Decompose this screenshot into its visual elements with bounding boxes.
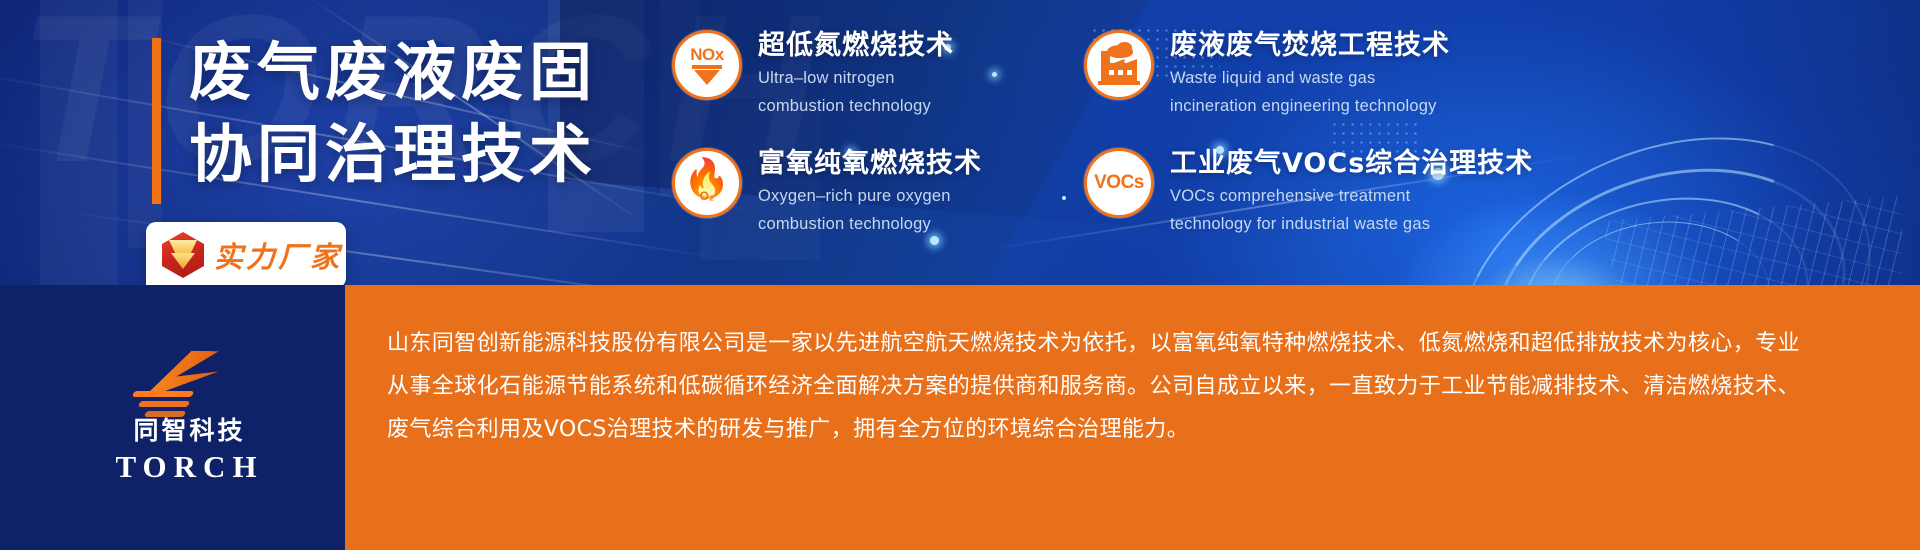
- feature-subtitle-line1: VOCs comprehensive treatment: [1170, 185, 1533, 207]
- feature-title: 工业废气VOCs综合治理技术: [1170, 148, 1533, 179]
- feature-grid: NOx 超低氮燃烧技术 Ultra–low nitrogen combustio…: [672, 28, 1504, 254]
- strength-manufacturer-badge[interactable]: 实力厂家: [146, 222, 346, 288]
- feature-subtitle-line2: incineration engineering technology: [1170, 95, 1450, 117]
- company-description-panel: 山东同智创新能源科技股份有限公司是一家以先进航空航天燃烧技术为依托，以富氧纯氧特…: [345, 285, 1920, 550]
- factory-smoke-icon: [1084, 30, 1154, 100]
- flame-o2-icon: 🔥 O₂: [672, 148, 742, 218]
- feature-item-nox[interactable]: NOx 超低氮燃烧技术 Ultra–low nitrogen combustio…: [672, 28, 1062, 136]
- bottom-bar: 同智科技 TORCH 山东同智创新能源科技股份有限公司是一家以先进航空航天燃烧技…: [0, 285, 1920, 550]
- bg-column: [40, 0, 118, 300]
- title-accent-bar: [152, 38, 161, 204]
- feature-subtitle-line2: combustion technology: [758, 95, 954, 117]
- feature-item-vocs[interactable]: VOCs 工业废气VOCs综合治理技术 VOCs comprehensive t…: [1084, 146, 1504, 254]
- feature-item-incineration[interactable]: 废液废气焚烧工程技术 Waste liquid and waste gas in…: [1084, 28, 1504, 136]
- nox-icon-label: NOx: [690, 46, 723, 63]
- headline-block: 废气废液废固 协同治理技术: [152, 34, 597, 204]
- company-logo-panel[interactable]: 同智科技 TORCH: [0, 285, 345, 550]
- headline-line-2: 协同治理技术: [189, 116, 597, 194]
- vocs-icon-label: VOCs: [1094, 172, 1144, 194]
- feature-title: 废液废气焚烧工程技术: [1170, 30, 1450, 61]
- feature-subtitle-line1: Oxygen–rich pure oxygen: [758, 185, 982, 207]
- torch-wing-logo: [127, 351, 219, 425]
- shield-icon: [162, 232, 204, 278]
- feature-title: 超低氮燃烧技术: [758, 30, 954, 61]
- headline-line-1: 废气废液废固: [189, 34, 597, 112]
- company-description-text: 山东同智创新能源科技股份有限公司是一家以先进航空航天燃烧技术为依托，以富氧纯氧特…: [387, 323, 1800, 452]
- feature-item-oxygen[interactable]: 🔥 O₂ 富氧纯氧燃烧技术 Oxygen–rich pure oxygen co…: [672, 146, 1062, 254]
- feature-subtitle-line2: technology for industrial waste gas: [1170, 213, 1533, 235]
- nox-down-arrow-icon: NOx: [672, 30, 742, 100]
- vocs-icon: VOCs: [1084, 148, 1154, 218]
- feature-subtitle-line2: combustion technology: [758, 213, 982, 235]
- logo-english-name: TORCH: [115, 449, 263, 485]
- feature-title: 富氧纯氧燃烧技术: [758, 148, 982, 179]
- feature-subtitle-line1: Ultra–low nitrogen: [758, 67, 954, 89]
- o2-icon-label: O₂: [700, 190, 715, 202]
- feature-subtitle-line1: Waste liquid and waste gas: [1170, 67, 1450, 89]
- promo-banner: TORCH 废气废液废固 协同治理技术 NOx: [0, 0, 1920, 550]
- badge-label: 实力厂家: [214, 234, 342, 276]
